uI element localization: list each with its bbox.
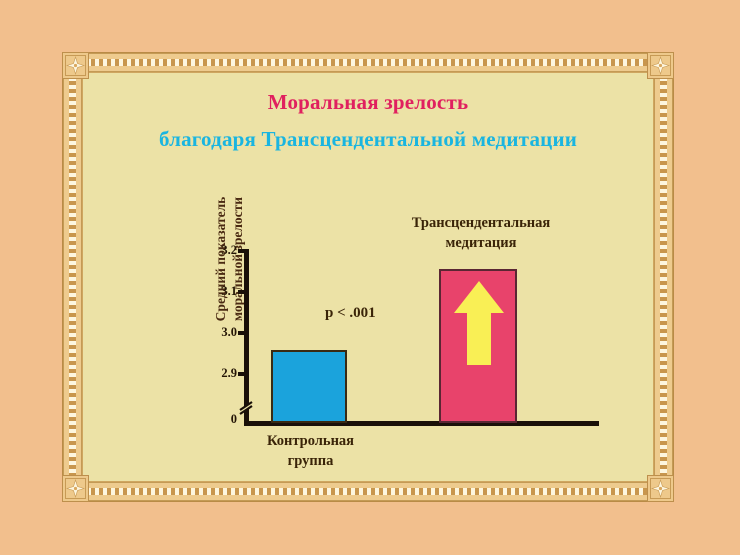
- bar-chart: Средний показатель моральной зрелости 3.…: [63, 53, 675, 503]
- diamond-star-ornament-icon: [648, 476, 673, 501]
- y-tick-label-3-2: 3.2: [203, 243, 237, 258]
- up-arrow-icon: [453, 279, 505, 367]
- y-tick-label-2-9: 2.9: [203, 366, 237, 381]
- tm-label-line-2: медитация: [363, 233, 599, 253]
- corner-ornament-top-right: [647, 52, 674, 79]
- category-label-transcendental-meditation: Трансцендентальная медитация: [363, 213, 599, 253]
- y-tick-label-3-0: 3.0: [203, 325, 237, 340]
- category-label-control-group: Контрольная группа: [243, 431, 378, 471]
- diamond-star-ornament-icon: [648, 53, 673, 78]
- corner-ornament-top-left: [62, 52, 89, 79]
- decorative-frame: Моральная зрелость благодаря Трансценден…: [62, 52, 674, 502]
- tm-label-line-1: Трансцендентальная: [363, 213, 599, 233]
- bar-control-group: [271, 350, 347, 423]
- control-label-line-2: группа: [243, 451, 378, 471]
- y-tick-label-3-1: 3.1: [203, 284, 237, 299]
- diamond-star-ornament-icon: [63, 476, 88, 501]
- corner-ornament-bottom-left: [62, 475, 89, 502]
- diamond-star-ornament-icon: [63, 53, 88, 78]
- axis-break-icon: [236, 397, 256, 415]
- control-label-line-1: Контрольная: [243, 431, 378, 451]
- p-value-annotation: p < .001: [325, 305, 376, 322]
- corner-ornament-bottom-right: [647, 475, 674, 502]
- slide-canvas: Моральная зрелость благодаря Трансценден…: [0, 0, 740, 555]
- y-tick-label-0: 0: [203, 412, 237, 427]
